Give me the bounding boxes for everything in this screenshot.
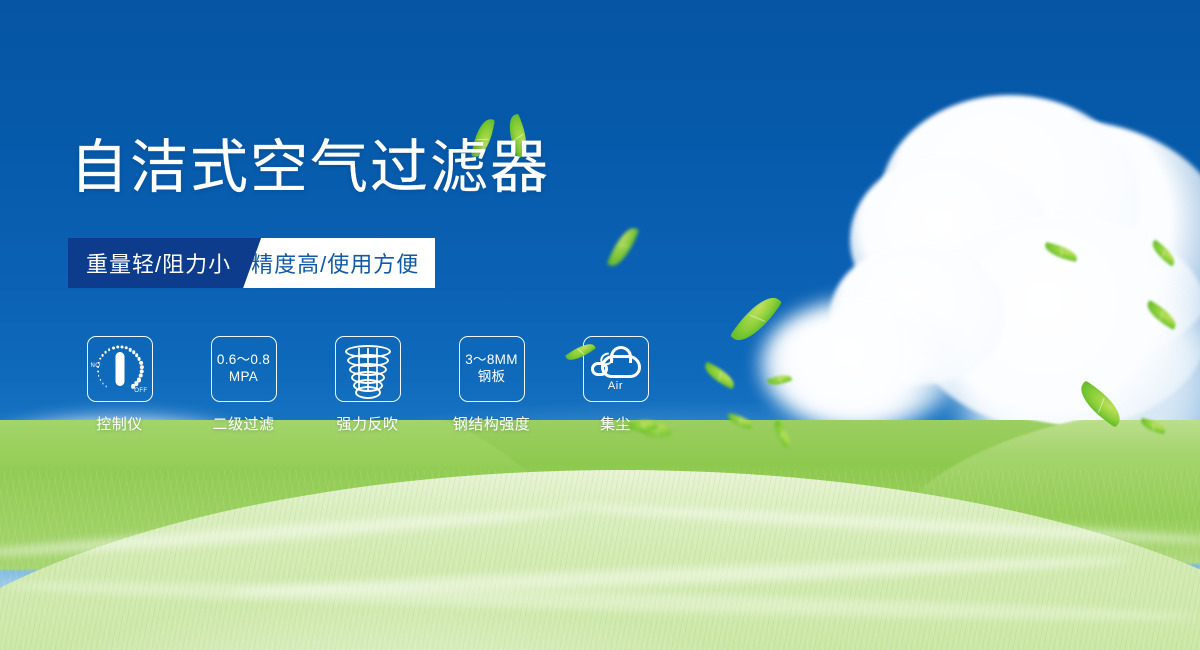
dial-label-no: NO <box>91 363 101 369</box>
feature-label: 强力反吹 <box>336 413 398 434</box>
dial-tick-dot <box>99 358 101 360</box>
dial-tick-dot <box>112 346 115 349</box>
dial-tick-dot <box>101 354 104 357</box>
dial-tick-dot <box>120 345 123 348</box>
tagline-secondary: 精度高/使用方便 <box>243 238 435 288</box>
tagline-primary: 重量轻/阻力小 <box>68 238 261 288</box>
dial-tick-dot <box>98 375 100 377</box>
grass-landscape <box>0 420 1200 650</box>
coil-filter-icon <box>345 344 391 394</box>
feature-item-backblow[interactable]: 强力反吹 <box>320 336 415 434</box>
dial-pointer-bar <box>115 352 124 386</box>
pressure-text-icon: 0.6～0.8 MPA <box>217 352 270 386</box>
cloud-air-label: Air <box>608 380 623 392</box>
steel-plate-text-icon: 3～8MM 钢板 <box>465 352 518 386</box>
pressure-line-2: MPA <box>217 369 270 386</box>
feature-label: 控制仪 <box>96 413 143 434</box>
dial-tick-dot <box>124 346 127 349</box>
coil-ring <box>355 386 381 399</box>
feature-label: 集尘 <box>600 413 631 434</box>
pressure-line-1: 0.6～0.8 <box>217 352 270 369</box>
feature-icon-box: 3～8MM 钢板 <box>459 336 525 402</box>
dial-tick-dot <box>102 382 104 384</box>
feature-item-filtration[interactable]: 0.6～0.8 MPA 二级过滤 <box>196 336 291 434</box>
dial-label-off: OFF <box>134 388 147 394</box>
feature-icon-box: NO OFF <box>87 336 153 402</box>
feature-label: 钢结构强度 <box>453 413 531 434</box>
tagline-bar: 重量轻/阻力小 精度高/使用方便 <box>68 238 435 288</box>
feature-label: 二级过滤 <box>212 413 274 434</box>
dial-tick-dot <box>97 370 99 372</box>
page-title: 自洁式空气过滤器 <box>70 139 550 197</box>
dial-gauge-icon: NO OFF <box>91 341 149 397</box>
steel-line-1: 3～8MM <box>465 352 518 369</box>
dial-tick-dot <box>108 348 111 351</box>
dial-tick-dot <box>99 379 101 381</box>
cloud-air-icon <box>591 346 641 378</box>
feature-icon-box: 0.6～0.8 MPA <box>211 336 277 402</box>
dial-tick-dot <box>131 384 136 389</box>
dial-tick-dot <box>105 386 107 388</box>
feature-item-controller[interactable]: NO OFF 控制仪 <box>72 336 167 434</box>
feature-item-steel-strength[interactable]: 3～8MM 钢板 钢结构强度 <box>444 336 539 434</box>
dial-tick-dot <box>104 351 107 354</box>
steel-line-2: 钢板 <box>465 369 518 386</box>
product-hero-banner: 自洁式空气过滤器 重量轻/阻力小 精度高/使用方便 NO OFF 控制仪 0.6… <box>0 0 1200 650</box>
feature-icon-box <box>335 336 401 402</box>
cloud-shape <box>760 300 960 430</box>
dial-tick-dot <box>116 346 119 349</box>
